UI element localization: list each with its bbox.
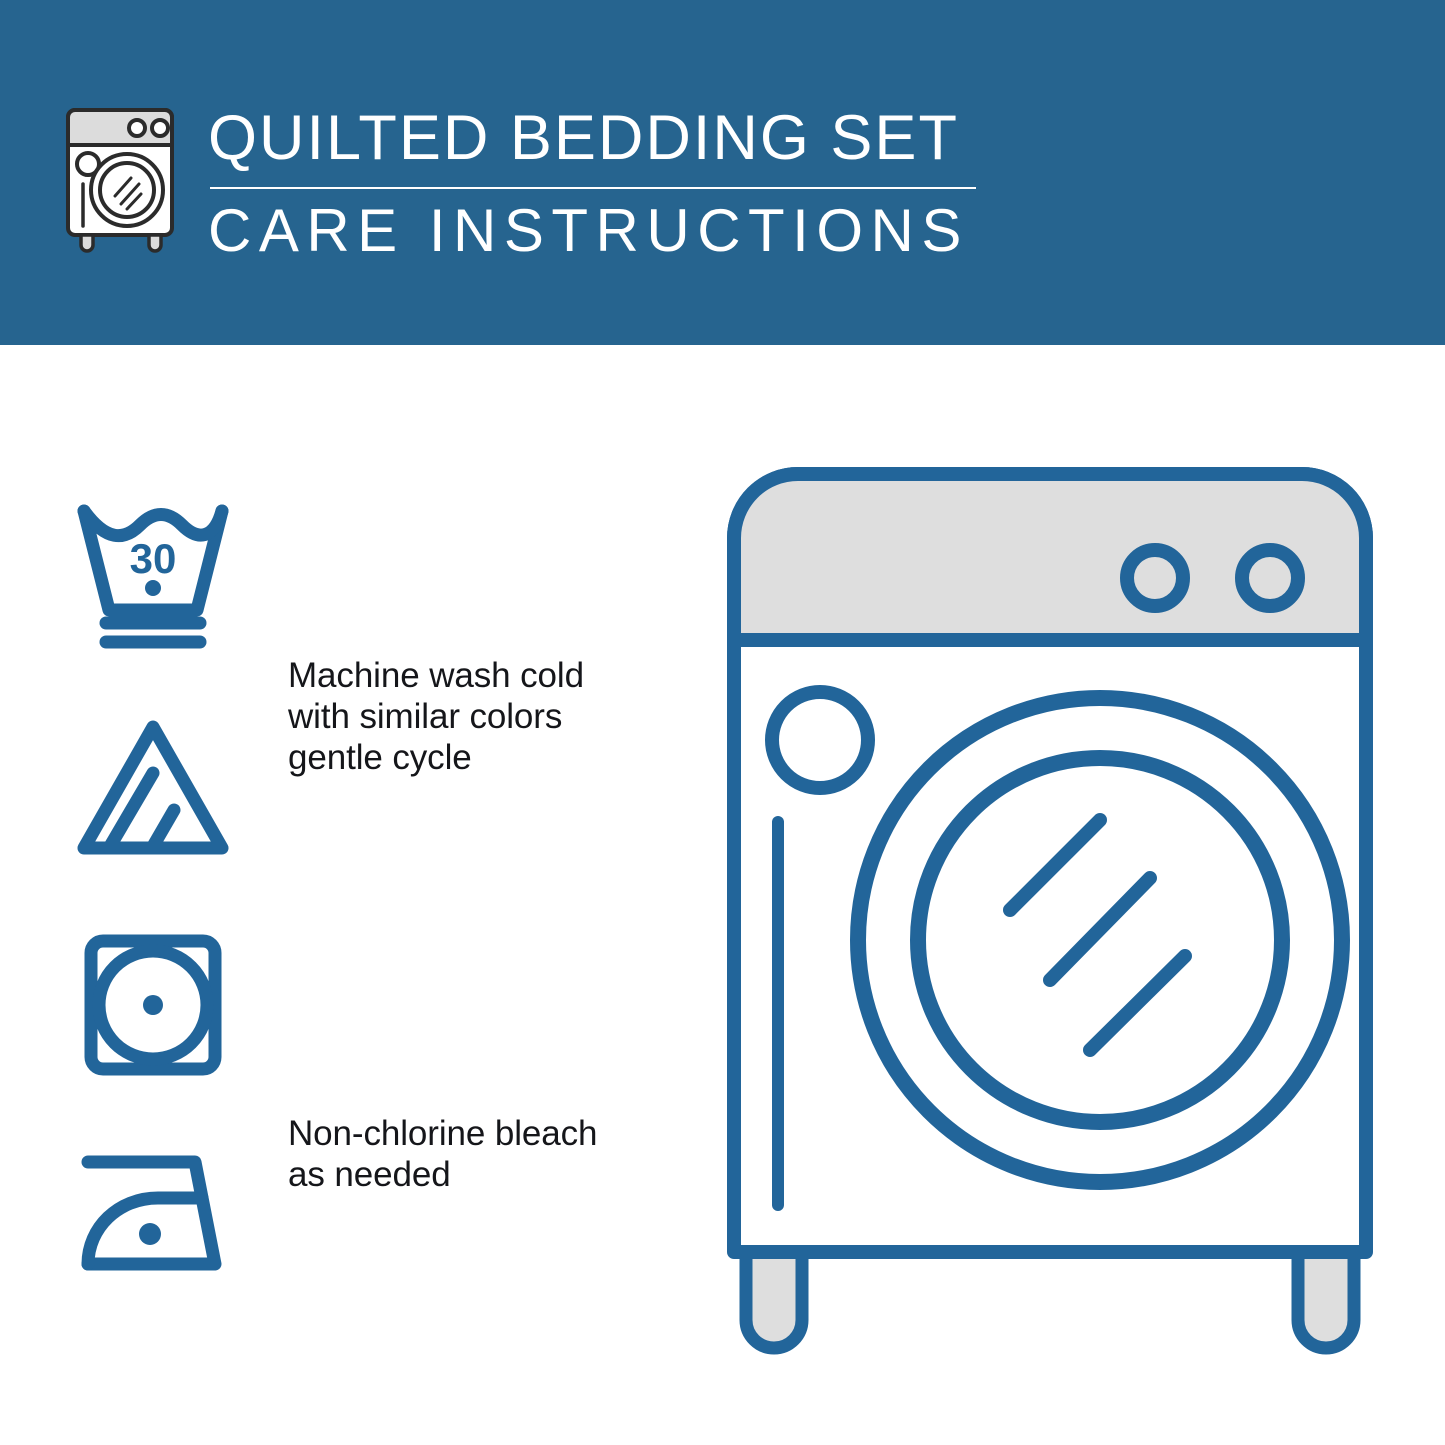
page-title: QUILTED BEDDING SET — [208, 102, 959, 174]
title-divider — [210, 187, 976, 189]
washing-machine-logo-icon — [63, 104, 185, 252]
tumble-dry-icon — [70, 930, 236, 1080]
care-text-machine-wash: Machine wash cold with similar colors ge… — [288, 655, 584, 778]
header-text-block: QUILTED BEDDING SET CARE INSTRUCTIONS — [208, 104, 998, 252]
bleach-triangle-icon — [70, 715, 236, 865]
iron-icon — [70, 1140, 236, 1290]
care-instructions-infographic: QUILTED BEDDING SET CARE INSTRUCTIONS — [0, 0, 1445, 1445]
leg-right — [1298, 1245, 1354, 1348]
leg-left — [746, 1245, 802, 1348]
care-instructions-list: 30 Machine wash cold with similar colors… — [0, 345, 700, 1445]
page-subtitle: CARE INSTRUCTIONS — [208, 197, 969, 265]
header-bar: QUILTED BEDDING SET CARE INSTRUCTIONS — [0, 0, 1445, 345]
washing-machine-illustration — [700, 440, 1420, 1370]
svg-text:30: 30 — [130, 535, 177, 582]
care-text-bleach: Non-chlorine bleach as needed — [288, 1113, 597, 1195]
wash-tub-30-icon: 30 — [70, 495, 236, 645]
